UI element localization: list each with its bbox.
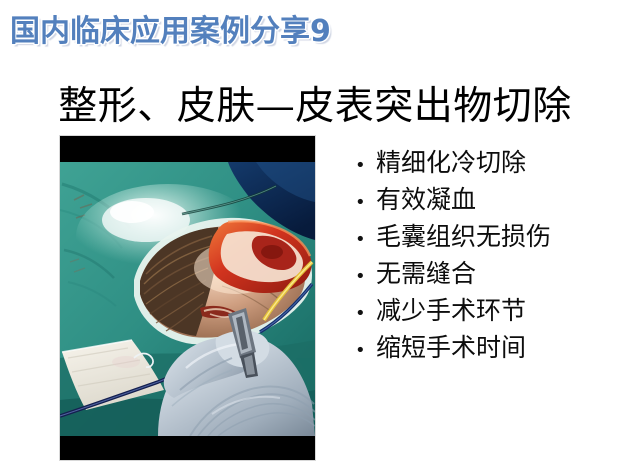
surgical-photo-illustration [60,162,315,436]
bullet-marker-icon: • [350,262,376,292]
bullet-marker-icon: • [350,188,376,218]
page-title: 整形、皮肤—皮表突出物切除 [0,84,630,130]
bullet-marker-icon: • [350,299,376,329]
header-title-text: 国内临床应用案例分享9 [10,13,430,51]
list-item-label: 有效凝血 [376,183,476,217]
bullet-marker-icon: • [350,151,376,181]
bullet-marker-icon: • [350,225,376,255]
list-item: • 有效凝血 [350,183,622,220]
bullet-list: • 精细化冷切除 • 有效凝血 • 毛囊组织无损伤 • 无需缝合 • 减少手术环… [350,146,622,368]
list-item: • 减少手术环节 [350,294,622,331]
bullet-marker-icon: • [350,336,376,366]
list-item-label: 缩短手术时间 [376,331,526,365]
list-item-label: 毛囊组织无损伤 [376,220,551,254]
header-banner: 国内临床应用案例分享9 [10,13,430,53]
list-item-label: 无需缝合 [376,257,476,291]
list-item-label: 精细化冷切除 [376,146,526,180]
list-item: • 毛囊组织无损伤 [350,220,622,257]
list-item: • 精细化冷切除 [350,146,622,183]
list-item: • 无需缝合 [350,257,622,294]
list-item-label: 减少手术环节 [376,294,526,328]
surgical-photo-image [60,162,315,436]
list-item: • 缩短手术时间 [350,331,622,368]
surgical-photo-frame [60,136,315,460]
